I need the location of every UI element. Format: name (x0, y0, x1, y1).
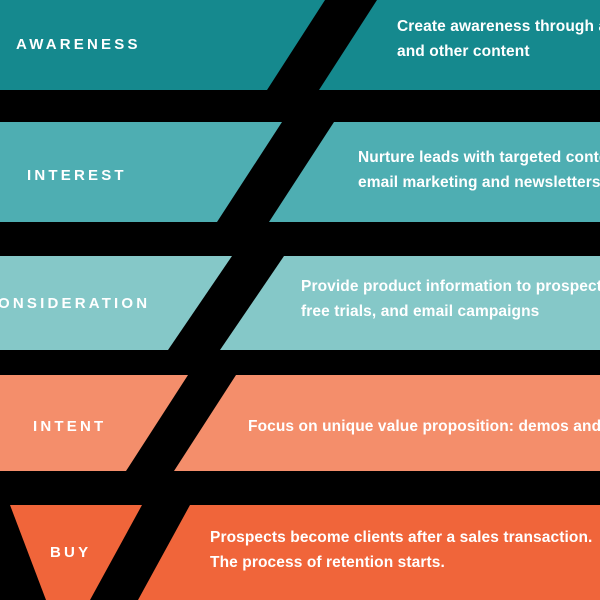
stage-label-awareness: AWARENESS (16, 37, 141, 52)
stage-label-buy: BUY (50, 545, 91, 560)
stage-description-intent: Focus on unique value proposition: demos… (248, 414, 600, 439)
description-line: Create awareness through ads, blog posts (397, 14, 600, 39)
stage-label-intent: INTENT (33, 419, 106, 434)
stage-label-interest: INTEREST (27, 168, 127, 183)
description-line: Focus on unique value proposition: demos… (248, 414, 600, 439)
description-line: Nurture leads with targeted content: (358, 145, 600, 170)
funnel-diagram: AWARENESSCreate awareness through ads, b… (0, 0, 600, 600)
stage-description-interest: Nurture leads with targeted content:emai… (358, 145, 600, 195)
description-line: free trials, and email campaigns (301, 299, 600, 324)
description-line: Provide product information to prospects… (301, 274, 600, 299)
stage-label-consideration: CONSIDERATION (0, 296, 150, 311)
description-line: Prospects become clients after a sales t… (210, 525, 592, 550)
description-line: The process of retention starts. (210, 550, 592, 575)
stage-description-consideration: Provide product information to prospects… (301, 274, 600, 324)
stage-description-awareness: Create awareness through ads, blog posts… (397, 14, 600, 64)
stage-description-buy: Prospects become clients after a sales t… (210, 525, 592, 575)
description-line: email marketing and newsletters (358, 170, 600, 195)
description-line: and other content (397, 39, 600, 64)
